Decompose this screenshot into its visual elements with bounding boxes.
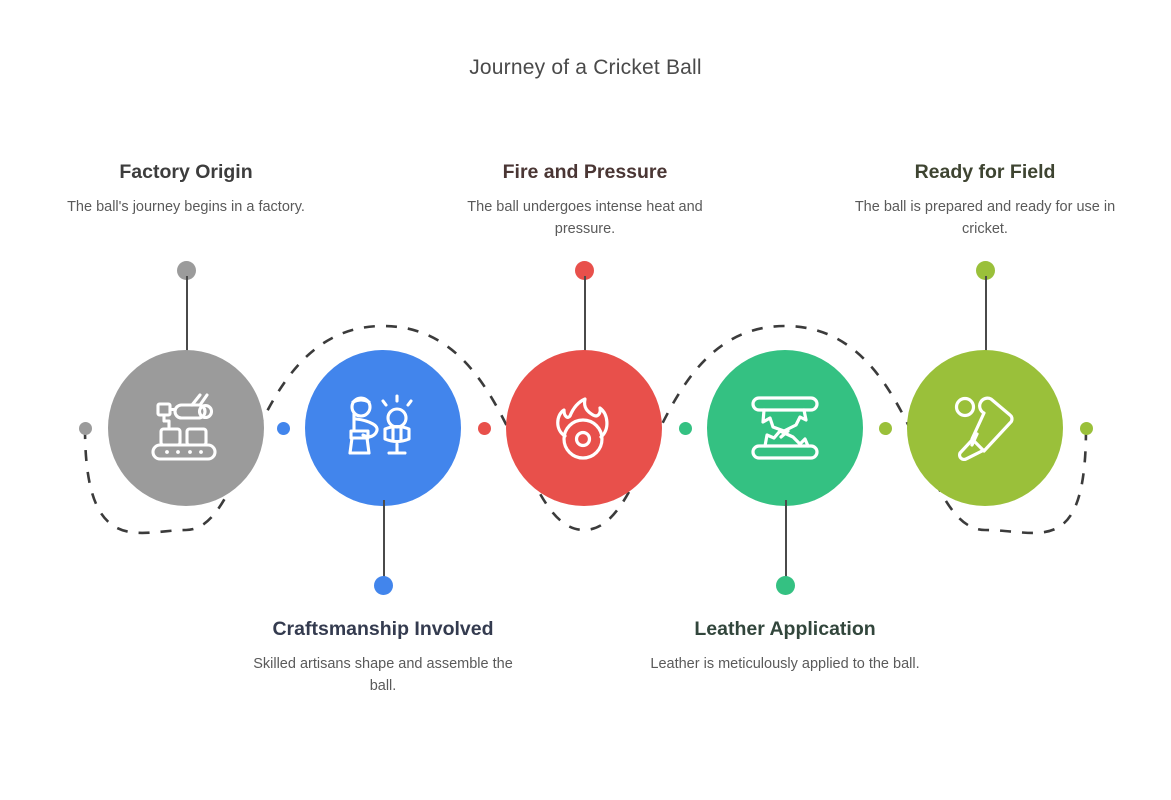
wave-dot-3 [478,422,491,435]
step-label-3: Fire and Pressure The ball undergoes int… [450,158,720,241]
step-heading-2: Craftsmanship Involved [248,615,518,643]
step-description-1: The ball's journey begins in a factory. [51,197,321,219]
wave-dot-2 [277,422,290,435]
step-stem-1 [186,276,188,356]
step-label-4: Leather Application Leather is meticulou… [650,615,920,676]
step-stem-2 [383,500,385,578]
flame-ball-icon [543,387,625,469]
leather-hide-press-icon [744,387,826,469]
step-heading-5: Ready for Field [850,158,1120,186]
infographic-canvas: Journey of a Cricket Ball Factory Origin… [0,0,1171,800]
wave-dot-1 [79,422,92,435]
step-description-3: The ball undergoes intense heat and pres… [450,197,720,241]
step-circle-5[interactable] [907,350,1063,506]
robot-arm-conveyor-icon [145,387,227,469]
step-heading-4: Leather Application [650,615,920,643]
step-heading-1: Factory Origin [51,158,321,186]
step-heading-3: Fire and Pressure [450,158,720,186]
step-circle-2[interactable] [305,350,461,506]
wave-dot-4 [679,422,692,435]
step-description-4: Leather is meticulously applied to the b… [650,654,920,676]
wave-dot-5 [879,422,892,435]
step-label-2: Craftsmanship Involved Skilled artisans … [248,615,518,698]
step-circle-1[interactable] [108,350,264,506]
step-knob-4 [776,576,795,595]
page-title: Journey of a Cricket Ball [0,56,1171,80]
cricket-bat-ball-icon [944,387,1026,469]
step-stem-4 [785,500,787,578]
step-stem-5 [985,276,987,356]
step-knob-2 [374,576,393,595]
artisan-crafting-icon [342,387,424,469]
step-circle-3[interactable] [506,350,662,506]
step-label-1: Factory Origin The ball's journey begins… [51,158,321,219]
step-description-2: Skilled artisans shape and assemble the … [248,654,518,698]
step-stem-3 [584,276,586,356]
step-circle-4[interactable] [707,350,863,506]
step-label-5: Ready for Field The ball is prepared and… [850,158,1120,241]
step-description-5: The ball is prepared and ready for use i… [850,197,1120,241]
wave-dot-6 [1080,422,1093,435]
